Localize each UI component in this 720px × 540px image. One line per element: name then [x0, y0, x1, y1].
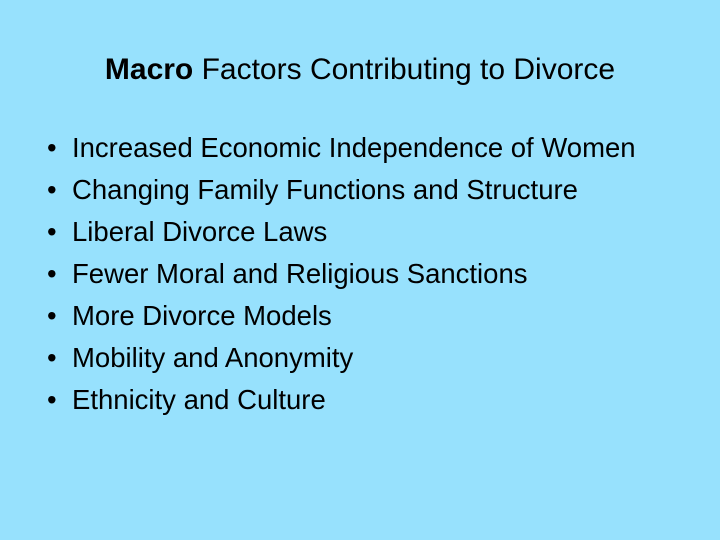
bullet-icon: •	[47, 295, 63, 337]
list-item-label: Mobility and Anonymity	[72, 337, 685, 379]
list-item-label: More Divorce Models	[72, 295, 685, 337]
list-item-label: Ethnicity and Culture	[72, 379, 685, 421]
page-title-emphasis: Macro	[105, 53, 193, 86]
page-title-rest: Factors Contributing to Divorce	[193, 53, 615, 86]
page-title: Macro Factors Contributing to Divorce	[0, 52, 720, 88]
list-item-label: Changing Family Functions and Structure	[72, 169, 685, 211]
bullet-icon: •	[47, 127, 63, 169]
list-item: • Increased Economic Independence of Wom…	[40, 127, 685, 169]
list-item-label: Fewer Moral and Religious Sanctions	[72, 253, 685, 295]
list-item: • Changing Family Functions and Structur…	[40, 169, 685, 211]
list-item: • Liberal Divorce Laws	[40, 211, 685, 253]
list-item: • Mobility and Anonymity	[40, 337, 685, 379]
list-item: • Fewer Moral and Religious Sanctions	[40, 253, 685, 295]
bullet-icon: •	[47, 169, 63, 211]
bullet-icon: •	[47, 337, 63, 379]
list-item: • Ethnicity and Culture	[40, 379, 685, 421]
list-item-label: Liberal Divorce Laws	[72, 211, 685, 253]
list-item-label: Increased Economic Independence of Women	[72, 127, 685, 169]
presentation-slide: Macro Factors Contributing to Divorce • …	[0, 0, 720, 540]
bullet-list: • Increased Economic Independence of Wom…	[40, 127, 685, 421]
bullet-icon: •	[47, 211, 63, 253]
bullet-icon: •	[47, 379, 63, 421]
list-item: • More Divorce Models	[40, 295, 685, 337]
bullet-icon: •	[47, 253, 63, 295]
